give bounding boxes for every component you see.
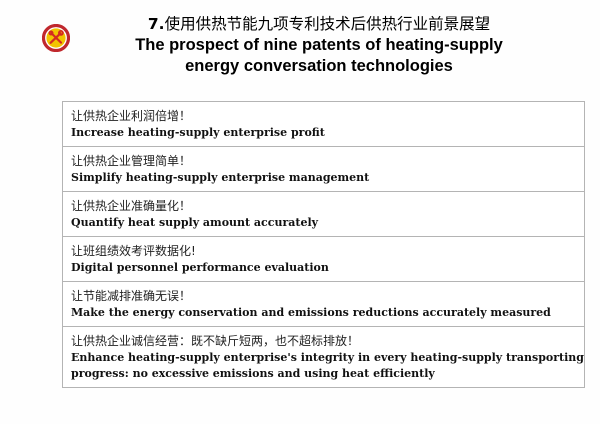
benefit-chinese: 让供热企业管理简单！ <box>71 152 584 170</box>
page-title-english-line1: The prospect of nine patents of heating-… <box>84 35 554 56</box>
table-row: 让供热企业准确量化！ Quantify heat supply amount a… <box>63 192 585 237</box>
benefit-english: Enhance heating-supply enterprise's inte… <box>71 350 584 366</box>
benefit-chinese: 让班组绩效考评数据化! <box>71 242 584 260</box>
benefit-english-continued: progress: no excessive emissions and usi… <box>71 366 584 382</box>
benefit-chinese: 让节能减排准确无误！ <box>71 287 584 305</box>
page-title-chinese: 7.使用供热节能九项专利技术后供热行业前景展望 <box>84 14 554 35</box>
page-title-number: 7. <box>148 15 165 33</box>
benefit-english: Quantify heat supply amount accurately <box>71 215 584 231</box>
table-cell: 让供热企业准确量化！ Quantify heat supply amount a… <box>63 192 585 237</box>
crossed-tools-badge-icon <box>42 24 70 52</box>
table-cell: 让班组绩效考评数据化! Digital personnel performanc… <box>63 237 585 282</box>
table-cell: 让供热企业利润倍增！ Increase heating-supply enter… <box>63 102 585 147</box>
table-row: 让班组绩效考评数据化! Digital personnel performanc… <box>63 237 585 282</box>
table-cell: 让供热企业管理简单！ Simplify heating-supply enter… <box>63 147 585 192</box>
benefits-table: 让供热企业利润倍增！ Increase heating-supply enter… <box>62 101 585 388</box>
table-row: 让供热企业利润倍增！ Increase heating-supply enter… <box>63 102 585 147</box>
benefit-english: Digital personnel performance evaluation <box>71 260 584 276</box>
benefit-english: Make the energy conservation and emissio… <box>71 305 584 321</box>
table-row: 让供热企业管理简单！ Simplify heating-supply enter… <box>63 147 585 192</box>
page-title-chinese-text: 使用供热节能九项专利技术后供热行业前景展望 <box>165 15 491 33</box>
benefit-chinese: 让供热企业诚信经营：既不缺斤短两，也不超标排放！ <box>71 332 584 350</box>
benefit-english: Increase heating-supply enterprise profi… <box>71 125 584 141</box>
table-row: 让节能减排准确无误！ Make the energy conservation … <box>63 282 585 327</box>
benefit-english: Simplify heating-supply enterprise manag… <box>71 170 584 186</box>
benefit-chinese: 让供热企业利润倍增！ <box>71 107 584 125</box>
table-cell: 让供热企业诚信经营：既不缺斤短两，也不超标排放！ Enhance heating… <box>63 327 585 388</box>
table-cell: 让节能减排准确无误！ Make the energy conservation … <box>63 282 585 327</box>
slide-canvas: 7.使用供热节能九项专利技术后供热行业前景展望 The prospect of … <box>0 0 600 424</box>
benefit-chinese: 让供热企业准确量化！ <box>71 197 584 215</box>
table-row: 让供热企业诚信经营：既不缺斤短两，也不超标排放！ Enhance heating… <box>63 327 585 388</box>
page-title-english-line2: energy conversation technologies <box>84 56 554 77</box>
slide-header: 7.使用供热节能九项专利技术后供热行业前景展望 The prospect of … <box>0 14 600 94</box>
title-block: 7.使用供热节能九项专利技术后供热行业前景展望 The prospect of … <box>84 14 554 77</box>
